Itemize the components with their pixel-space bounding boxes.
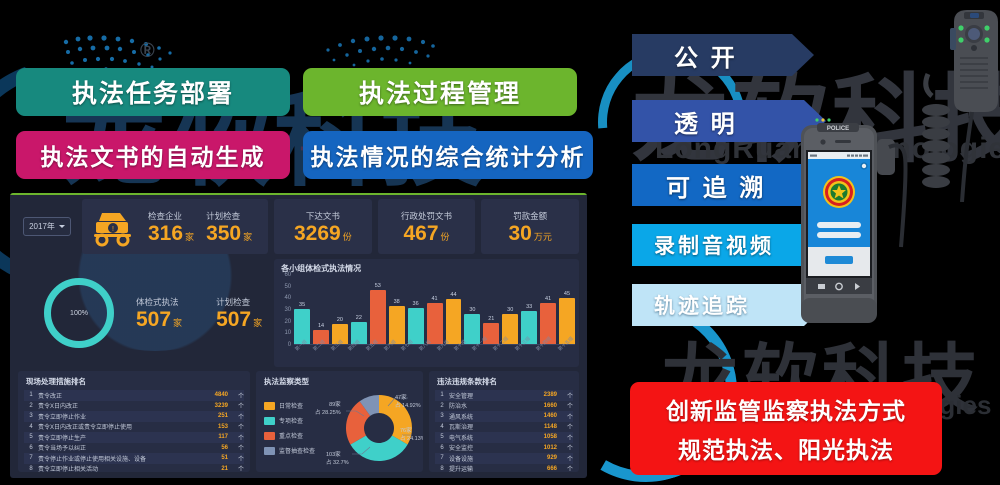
rank-unit: 个	[228, 422, 244, 431]
rank-unit: 个	[557, 464, 573, 472]
pie-annotation-daily-check: 76家占 24.13%	[400, 427, 423, 444]
rank-index: 6	[24, 445, 38, 451]
bar-value-label: 41	[431, 296, 437, 302]
bar-column[interactable]: 22	[351, 275, 367, 344]
bar-value-label: 38	[394, 299, 400, 305]
stat-unit: 家	[243, 232, 252, 242]
svg-text:!: !	[112, 226, 114, 233]
rank-unit: 个	[228, 401, 244, 410]
bar-column[interactable]: 41	[540, 275, 556, 344]
y-axis-tick: 10	[284, 330, 291, 336]
table-row[interactable]: 8提升运输666个	[435, 464, 573, 473]
rank-unit: 个	[557, 454, 573, 463]
rank-index: 6	[435, 445, 449, 451]
rank-unit: 个	[228, 443, 244, 452]
donut-progress-card: 100% 体检式执法 507家 计划检查 507家	[18, 259, 268, 367]
bar-value-label: 21	[488, 316, 494, 322]
bar-value-label: 44	[450, 292, 456, 298]
rank-index: 3	[24, 413, 38, 419]
table-row[interactable]: 3责令立即停止作业251个	[24, 411, 244, 422]
police-handheld-terminal: POLICE	[795, 95, 920, 355]
mining-truck-icon: !	[90, 207, 136, 247]
metric-unit: 家	[173, 318, 182, 328]
rank-name: 安全管理	[449, 391, 531, 400]
bar-column[interactable]: 38	[389, 275, 405, 344]
y-axis-tick: 0	[288, 342, 291, 348]
rank-unit: 个	[557, 391, 573, 400]
stat-card-issued-documents: 下达文书 3269份	[274, 199, 372, 254]
table-row[interactable]: 4瓦斯治理1148个	[435, 422, 573, 433]
rank-value: 51	[202, 455, 228, 461]
table-row[interactable]: 7责令停止作业或停止使用相关设施、设备51个	[24, 453, 244, 464]
rank-value: 929	[531, 455, 557, 461]
bar-chart-y-axis: 0102030405060	[275, 275, 293, 345]
stat-planned-inspections: 计划检查 350家	[200, 210, 258, 244]
bar	[294, 309, 310, 344]
rank-value: 1148	[531, 424, 557, 430]
bar	[464, 314, 480, 344]
stat-unit: 家	[185, 232, 194, 242]
stat-label: 计划检查	[206, 210, 252, 222]
y-axis-tick: 40	[284, 295, 291, 301]
dashboard-mid-row: 100% 体检式执法 507家 计划检查 507家 各小组体检式执法情况 01	[18, 259, 579, 367]
table-row[interactable]: 4责令X日内改正或责令立即停止使用153个	[24, 422, 244, 433]
bar-column[interactable]: 30	[464, 275, 480, 344]
table-row[interactable]: 2责令X日内改正3239个	[24, 401, 244, 412]
rank-unit: 个	[228, 433, 244, 442]
bar-value-label: 45	[564, 291, 570, 297]
table-row[interactable]: 1安全管理2389个	[435, 390, 573, 401]
pie-chart-card: 执法监察类型 日常检查专项检查重点检查监督抽查检查	[256, 371, 423, 472]
rank-index: 7	[435, 455, 449, 461]
rank-name: 设备设施	[449, 454, 531, 463]
arrow-banner-label: 可 追 溯	[666, 168, 766, 203]
bar-chart-plot: 0102030405060 35142022533836414430213033…	[294, 275, 575, 345]
rank-index: 2	[435, 403, 449, 409]
rank-unit: 个	[228, 391, 244, 400]
table-row[interactable]: 7设备设施929个	[435, 453, 573, 464]
bar-column[interactable]: 20	[332, 275, 348, 344]
rank-name: 电气系统	[449, 433, 531, 442]
bar-chart-card: 各小组体检式执法情况 0102030405060 351420225338364…	[274, 259, 579, 367]
rank-unit: 个	[228, 412, 244, 421]
bar-value-label: 36	[413, 301, 419, 307]
arrow-banner-label: 公 开	[674, 38, 738, 73]
year-selector[interactable]: 2017年	[18, 199, 76, 254]
legend-swatch	[264, 432, 275, 440]
progress-donut-percent: 100%	[70, 310, 88, 317]
legend-label: 监督抽查检查	[279, 446, 315, 455]
arrow-banner-label: 轨迹追踪	[654, 290, 750, 320]
rank-name: 安全监控	[449, 443, 531, 452]
rank-panel-measures-title: 现场处理措施排名	[18, 371, 250, 390]
rank-name: 责令当场予以纠正	[38, 443, 202, 452]
bar-column[interactable]: 35	[294, 275, 310, 344]
stat-label: 罚款金额	[508, 210, 551, 222]
table-row[interactable]: 6安全监控1012个	[435, 443, 573, 454]
chevron-down-icon	[59, 225, 65, 228]
pie-annotation-key-check: 89家占 28.25%	[315, 401, 341, 418]
arrow-banner-label: 透 明	[674, 104, 738, 139]
svg-text:POLICE: POLICE	[827, 126, 849, 132]
legend-item[interactable]: 监督抽查检查	[264, 446, 315, 455]
rank-name: 责令改正	[38, 391, 202, 400]
rank-unit: 个	[557, 412, 573, 421]
stat-label: 下达文书	[294, 210, 352, 222]
table-row[interactable]: 2防治水1660个	[435, 401, 573, 412]
stat-value: 30	[508, 222, 531, 245]
stat-value: 3269	[294, 222, 341, 245]
red-slogan-banner: 创新监管监察执法方式 规范执法、阳光执法	[630, 382, 942, 475]
rank-index: 5	[435, 434, 449, 440]
legend-item[interactable]: 重点检查	[264, 431, 315, 440]
feature-chip-process-management[interactable]: 执法过程管理	[303, 68, 577, 116]
metric-label: 体检式执法	[136, 296, 182, 308]
rank-name: 防治水	[449, 401, 531, 410]
y-axis-tick: 20	[284, 319, 291, 325]
rank-unit: 个	[228, 454, 244, 463]
stat-label: 检查企业	[148, 210, 194, 222]
feature-chip-auto-document[interactable]: 执法文书的自动生成	[16, 131, 290, 179]
bar-column[interactable]: 30	[502, 275, 518, 344]
bar-chart-x-axis: 第一组第二组第三组第四组第五组第六组第七组第八组第九组第十组第十一组第十二组第十…	[294, 345, 575, 365]
bar-value-label: 20	[337, 317, 343, 323]
rank-value: 117	[202, 434, 228, 440]
pie-annotation-special-check: 103家占 32.7%	[326, 451, 349, 468]
rank-index: 8	[24, 466, 38, 472]
y-axis-tick: 30	[284, 307, 291, 313]
rank-value: 153	[202, 424, 228, 430]
rank-value: 1058	[531, 434, 557, 440]
dashboard-bottom-row: 现场处理措施排名 1责令改正4840个2责令X日内改正3239个3责令立即停止作…	[18, 371, 579, 472]
rank-unit: 个	[228, 464, 244, 472]
bar-column[interactable]: 45	[559, 275, 575, 344]
bar-value-label: 53	[375, 283, 381, 289]
metric-label: 计划检查	[216, 296, 262, 308]
bar-value-label: 35	[299, 302, 305, 308]
table-row[interactable]: 8责令立即停止相关活动21个	[24, 464, 244, 473]
metric-value: 507	[136, 308, 171, 331]
rank-index: 1	[435, 392, 449, 398]
bar-column[interactable]: 14	[313, 275, 329, 344]
bar-value-label: 14	[318, 323, 324, 329]
rank-index: 5	[24, 434, 38, 440]
stat-unit: 份	[343, 232, 352, 242]
stat-unit: 万元	[534, 232, 552, 242]
bar-column[interactable]: 44	[446, 275, 462, 344]
rank-name: 责令停止作业或停止使用相关设施、设备	[38, 454, 202, 463]
table-row[interactable]: 3通风系统1460个	[435, 411, 573, 422]
rank-list-measures: 1责令改正4840个2责令X日内改正3239个3责令立即停止作业251个4责令X…	[18, 390, 250, 472]
rank-panel-violations-title: 违法违规条款排名	[429, 371, 579, 390]
stat-value: 350	[206, 222, 241, 245]
rank-index: 4	[435, 424, 449, 430]
rank-value: 1460	[531, 413, 557, 419]
bar-value-label: 33	[526, 304, 532, 310]
stat-card-fine-amount: 罚款金额 30万元	[481, 199, 579, 254]
bar-chart-title: 各小组体检式执法情况	[281, 263, 361, 274]
rank-index: 8	[435, 466, 449, 472]
rank-value: 4840	[202, 392, 228, 398]
rank-unit: 个	[557, 443, 573, 452]
stat-label: 行政处罚文书	[401, 210, 452, 222]
arrow-banner-public[interactable]: 公 开	[632, 34, 814, 76]
rank-name: 责令立即停止作业	[38, 412, 202, 421]
bar-value-label: 30	[507, 307, 513, 313]
feature-chip-label: 执法情况的综合统计分析	[311, 138, 586, 172]
red-banner-line-1: 创新监管监察执法方式	[666, 392, 906, 426]
rank-value: 666	[531, 466, 557, 472]
table-row[interactable]: 1责令改正4840个	[24, 390, 244, 401]
stat-unit: 份	[441, 232, 450, 242]
arrow-banner-label: 录制音视频	[654, 230, 774, 260]
rank-name: 责令立即停止生产	[38, 433, 202, 442]
rank-name: 责令立即停止相关活动	[38, 464, 202, 472]
bar-value-label: 30	[469, 307, 475, 313]
legend-item[interactable]: 日常检查	[264, 401, 315, 410]
bar-chart-bars: 351420225338364144302130334145	[294, 275, 575, 345]
bar-value-label: 22	[356, 315, 362, 321]
rank-name: 责令X日内改正或责令立即停止使用	[38, 422, 202, 431]
y-axis-tick: 60	[284, 272, 291, 278]
legend-swatch	[264, 447, 275, 455]
rank-value: 251	[202, 413, 228, 419]
metric-value: 507	[216, 308, 251, 331]
stat-card-inspection: ! 检查企业 316家 计划检查 350家	[82, 199, 268, 254]
shoulder-microphone	[920, 2, 1000, 202]
bar-column[interactable]: 53	[370, 275, 386, 344]
rank-unit: 个	[557, 433, 573, 442]
feature-chip-label: 执法任务部署	[72, 74, 234, 110]
poster-root: 龙软科技 LongRuan Technologies ® 龙软科技 LongRu…	[0, 0, 1000, 485]
table-row[interactable]: 6责令当场予以纠正56个	[24, 443, 244, 454]
rank-index: 3	[435, 413, 449, 419]
bar-value-label: 41	[545, 296, 551, 302]
bar-column[interactable]: 21	[483, 275, 499, 344]
rank-list-violations: 1安全管理2389个2防治水1660个3通风系统1460个4瓦斯治理1148个5…	[429, 390, 579, 472]
rank-name: 通风系统	[449, 412, 531, 421]
metric-planned-inspection: 计划检查 507家	[210, 296, 268, 330]
stat-card-penalty-documents: 行政处罚文书 467份	[378, 199, 476, 254]
rank-index: 1	[24, 392, 38, 398]
rank-index: 4	[24, 424, 38, 430]
registered-mark-icon: ®	[140, 40, 155, 63]
rank-name: 提升运输	[449, 464, 531, 472]
rank-unit: 个	[557, 422, 573, 431]
rank-panel-measures: 现场处理措施排名 1责令改正4840个2责令X日内改正3239个3责令立即停止作…	[18, 371, 250, 472]
bar-column[interactable]: 36	[408, 275, 424, 344]
stat-value: 316	[148, 222, 183, 245]
rank-value: 3239	[202, 403, 228, 409]
legend-item[interactable]: 专项检查	[264, 416, 315, 425]
progress-donut: 100%	[44, 278, 114, 348]
rank-value: 1012	[531, 445, 557, 451]
rank-panel-violations: 违法违规条款排名 1安全管理2389个2防治水1660个3通风系统1460个4瓦…	[429, 371, 579, 472]
rank-value: 56	[202, 445, 228, 451]
bar	[446, 299, 462, 344]
rank-value: 21	[202, 466, 228, 472]
pie-chart-legend: 日常检查专项检查重点检查监督抽查检查	[264, 401, 315, 461]
stat-inspected-enterprises: 检查企业 316家	[142, 210, 200, 244]
rank-index: 2	[24, 403, 38, 409]
bar	[389, 306, 405, 344]
metric-unit: 家	[253, 318, 262, 328]
red-banner-line-2: 规范执法、阳光执法	[678, 431, 894, 465]
y-axis-tick: 50	[284, 284, 291, 290]
table-row[interactable]: 5电气系统1058个	[435, 432, 573, 443]
pie-annotation-monitor-check: 47家占 14.92%	[395, 394, 421, 411]
rank-index: 7	[24, 455, 38, 461]
bar-column[interactable]: 33	[521, 275, 537, 344]
table-row[interactable]: 5责令立即停止生产117个	[24, 432, 244, 443]
bar-column[interactable]: 41	[427, 275, 443, 344]
year-selector-value: 2017年	[29, 221, 55, 232]
feature-chip-label: 执法过程管理	[359, 74, 521, 110]
bar	[370, 290, 386, 344]
rank-name: 责令X日内改正	[38, 401, 202, 410]
legend-swatch	[264, 402, 275, 410]
legend-swatch	[264, 417, 275, 425]
rank-name: 瓦斯治理	[449, 422, 531, 431]
dashboard-stat-bar: 2017年 ! 检查企业 316家	[18, 199, 579, 254]
legend-label: 重点检查	[279, 431, 303, 440]
dashboard-screenshot: ® 2017年 ! 检查企业	[10, 193, 587, 478]
legend-label: 日常检查	[279, 401, 303, 410]
rank-value: 1660	[531, 403, 557, 409]
rank-value: 2389	[531, 392, 557, 398]
stat-value: 467	[403, 222, 438, 245]
rank-unit: 个	[557, 401, 573, 410]
feature-chip-label: 执法文书的自动生成	[41, 138, 266, 172]
legend-label: 专项检查	[279, 416, 303, 425]
metric-physical-inspection: 体检式执法 507家	[130, 296, 188, 330]
feature-chip-task-deployment[interactable]: 执法任务部署	[16, 68, 290, 116]
feature-chip-statistics-analysis[interactable]: 执法情况的综合统计分析	[303, 131, 593, 179]
